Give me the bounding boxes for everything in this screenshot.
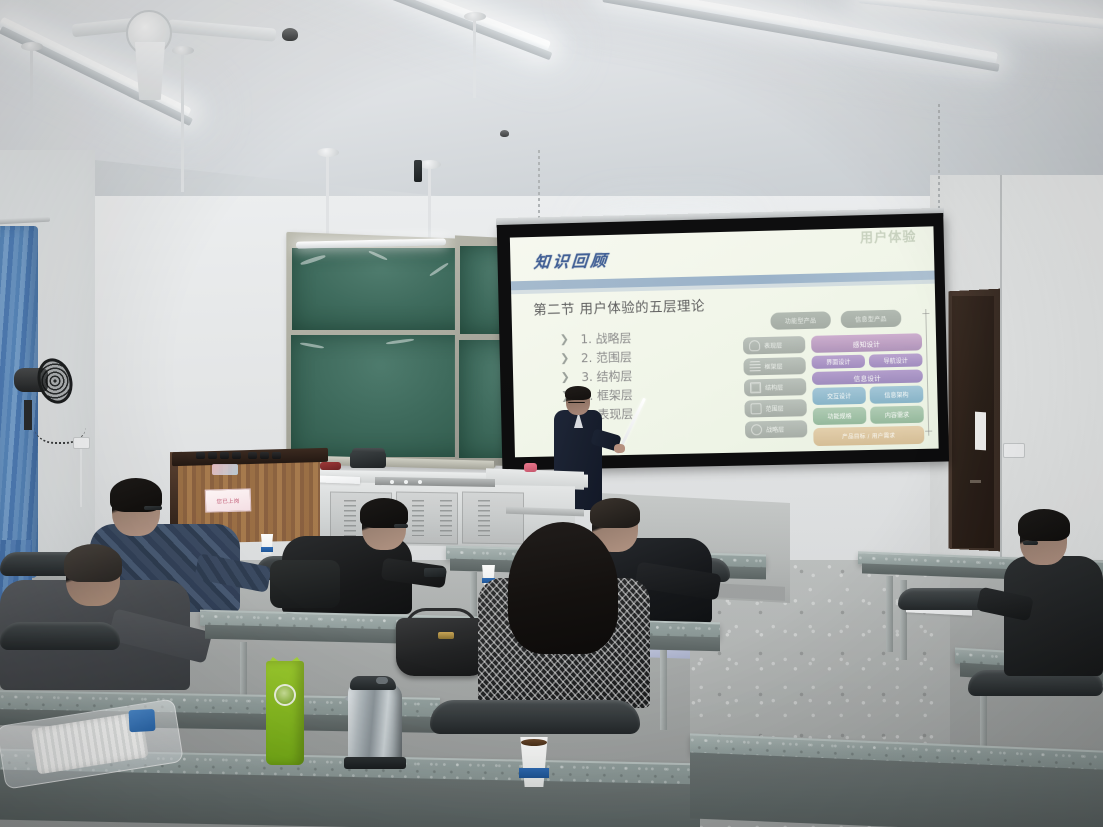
- layer-content-column: 感知设计 界面设计 导航设计 信息设计 交互设计 信息架构 功能规格 内容需求: [811, 333, 924, 449]
- classroom-door[interactable]: [952, 296, 994, 548]
- layer-structure: 结构层: [744, 378, 807, 396]
- console-led: [418, 480, 422, 484]
- outlet-cord: [80, 449, 82, 507]
- chevron-right-icon: ❯: [560, 352, 572, 365]
- audience-hair: [64, 544, 122, 582]
- audience-hair-long: [508, 522, 618, 654]
- ceiling-rod-2: [181, 50, 184, 192]
- bottle-cap-row: [220, 452, 229, 459]
- red-object: [320, 462, 341, 470]
- abstraction-axis: [925, 309, 929, 436]
- layer-label: 框架层: [764, 362, 782, 371]
- slide-subtitle: 第二节 用户体验的五层理论: [533, 294, 705, 318]
- smoke-detector-icon: [500, 130, 509, 137]
- coffee-surface: [521, 739, 547, 746]
- presenter-glasses-icon: [568, 399, 585, 403]
- cell-information-design: 信息设计: [812, 369, 923, 385]
- course-logo: 用户体验: [859, 231, 918, 273]
- bullet-label: 1. 战略层: [580, 329, 631, 347]
- audience-glasses-icon: [394, 524, 408, 528]
- tree-icon: [750, 382, 761, 393]
- desk-leg: [886, 576, 893, 652]
- bullet-label: 2. 范围层: [581, 348, 632, 366]
- pink-object: [524, 463, 537, 472]
- row-interface-navigation: 界面设计 导航设计: [811, 353, 922, 369]
- tea-bag-logo-icon: [274, 684, 296, 706]
- rod-knob-3: [317, 148, 339, 157]
- layer-scope: 范围层: [744, 399, 807, 417]
- chip-information-product: 信息型产品: [841, 310, 902, 329]
- layer-label: 范围层: [765, 404, 783, 413]
- camera-dome-icon: [282, 28, 298, 41]
- presenter-hand: [614, 444, 625, 453]
- product-type-chips: 功能型产品 信息型产品: [770, 310, 901, 330]
- electric-kettle[interactable]: [348, 683, 402, 763]
- presenter-hair: [565, 386, 591, 400]
- chevron-right-icon: ❯: [560, 333, 572, 346]
- cell-interface-design: 界面设计: [811, 355, 865, 369]
- chair-back[interactable]: [430, 700, 640, 734]
- rod-knob-4: [419, 160, 441, 169]
- desk-leg: [660, 650, 667, 730]
- console-led: [390, 480, 394, 484]
- layer-skeleton: 框架层: [743, 357, 806, 375]
- cell-perception-design: 感知设计: [811, 333, 922, 353]
- podium-sticker: [212, 464, 238, 475]
- bottle-cap-row: [272, 452, 281, 459]
- eye-icon: [751, 424, 762, 435]
- layer-surface: 表现层: [743, 336, 806, 354]
- screen-chain: [538, 150, 540, 220]
- bullet-label: 3. 结构层: [581, 367, 632, 385]
- bottle-cap-row: [260, 452, 269, 459]
- podium-sign: 您已上岗: [205, 488, 252, 512]
- cell-goals-and-needs: 产品目标 / 用户需求: [813, 426, 924, 446]
- paper-cup-band: [261, 547, 273, 552]
- slide-title: 知识回顾: [533, 247, 610, 273]
- audience-glasses-icon: [144, 506, 162, 510]
- phone-in-hand[interactable]: [424, 568, 446, 577]
- cell-information-architecture: 信息架构: [870, 386, 924, 404]
- audience-hair: [590, 498, 640, 528]
- wall-fan-bracket: [24, 400, 32, 430]
- row-function-content: 功能规格 内容需求: [813, 406, 924, 425]
- bottle-cap-row: [208, 452, 217, 459]
- handbag-clasp: [438, 632, 454, 639]
- door-notice-paper: [975, 412, 986, 451]
- audience-glasses-icon: [1023, 541, 1038, 545]
- cabinet-vent: [344, 500, 356, 536]
- kettle-lid[interactable]: [350, 676, 396, 690]
- layer-strategy: 战略层: [745, 420, 808, 438]
- layer-label: 结构层: [765, 383, 783, 392]
- ceiling-rod-5: [473, 16, 476, 98]
- power-outlet[interactable]: [73, 437, 90, 449]
- list-icon: [749, 361, 760, 372]
- cell-interaction-design: 交互设计: [812, 387, 866, 405]
- layer-name-column: 表现层 框架层 结构层 范围层: [743, 336, 808, 443]
- telephone-base[interactable]: [350, 452, 386, 468]
- rod-knob-2: [172, 46, 194, 55]
- window-curtain[interactable]: [0, 226, 38, 578]
- cabinet-door-right[interactable]: [462, 491, 524, 544]
- frame-icon: [750, 403, 761, 414]
- rod-knob-1: [21, 42, 43, 51]
- kettle-base: [344, 757, 406, 769]
- cup-stack-label: [128, 709, 155, 732]
- five-layer-diagram: 功能型产品 信息型产品 表现层 框架层 结构层: [742, 309, 934, 440]
- bottle-cap-row: [232, 452, 241, 459]
- list-item: ❯ 2. 范围层: [560, 347, 632, 368]
- screen-chain-2: [938, 104, 940, 214]
- kettle-knob[interactable]: [376, 677, 388, 684]
- console-led: [404, 480, 408, 484]
- layer-label: 战略层: [766, 425, 784, 434]
- cell-content-requirements: 内容需求: [870, 406, 924, 424]
- backpack[interactable]: [270, 560, 340, 608]
- ceiling-rod-1: [30, 46, 33, 118]
- row-interaction-architecture: 交互设计 信息架构: [812, 386, 923, 406]
- layer-label: 表现层: [764, 341, 782, 350]
- ceiling-clamp: [414, 160, 422, 182]
- bottle-cap-row: [196, 452, 205, 459]
- handbag[interactable]: [396, 618, 488, 676]
- wall-seam: [1000, 175, 1002, 595]
- audience-hair: [1018, 509, 1070, 541]
- cell-functional-spec: 功能规格: [813, 407, 867, 425]
- cell-navigation-design: 导航设计: [869, 353, 923, 367]
- bottle-cap-row: [248, 452, 257, 459]
- door-handle[interactable]: [970, 480, 981, 483]
- paper-cup-band: [519, 768, 549, 778]
- rod-knob-5: [464, 12, 486, 21]
- list-item: ❯ 1. 战略层: [559, 328, 631, 349]
- chip-functional-product: 功能型产品: [770, 311, 831, 329]
- bulb-icon: [749, 340, 760, 351]
- cabinet-vent: [478, 500, 490, 536]
- chevron-right-icon: ❯: [560, 370, 572, 383]
- classroom-photo: 知识回顾 用户体验 第二节 用户体验的五层理论 ❯ 1. 战略层 ❯ 2. 范围…: [0, 0, 1103, 827]
- light-switch-panel[interactable]: [1003, 443, 1025, 458]
- green-tea-bag: [266, 661, 304, 765]
- chair-back[interactable]: [0, 622, 120, 650]
- cabinet-vent: [412, 500, 424, 536]
- cabinet-vent: [440, 500, 452, 536]
- list-item: ❯ 3. 结构层: [560, 366, 632, 387]
